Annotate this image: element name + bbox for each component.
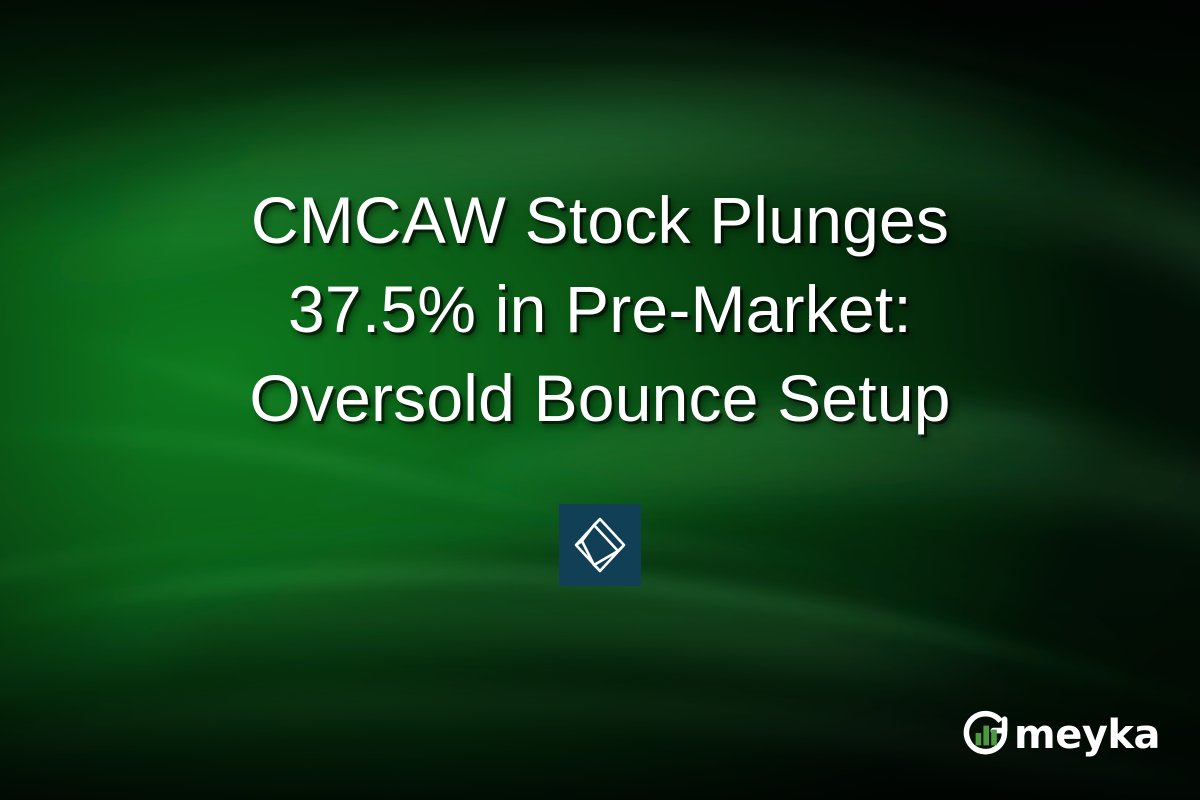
social-share-card: CMCAW Stock Plunges 37.5% in Pre-Market:…: [0, 0, 1200, 800]
diamond-gem-icon: [569, 514, 631, 576]
headline-line-3: Oversold Bounce Setup: [90, 354, 1110, 443]
meyka-bar-chart-ring-icon: [960, 708, 1012, 760]
company-logo-badge: [559, 504, 641, 586]
meyka-wordmark: meyka: [1014, 715, 1160, 755]
headline-line-1: CMCAW Stock Plunges: [90, 176, 1110, 265]
meyka-brand-lockup: meyka: [960, 708, 1160, 760]
headline-line-2: 37.5% in Pre-Market:: [90, 265, 1110, 354]
headline: CMCAW Stock Plunges 37.5% in Pre-Market:…: [0, 176, 1200, 443]
